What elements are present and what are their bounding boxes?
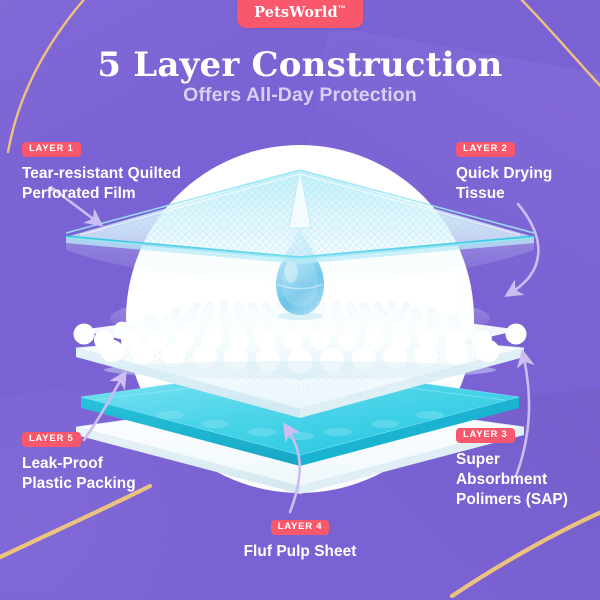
badge-layer-5: LAYER 5 (22, 432, 81, 447)
badge-layer-1: LAYER 1 (22, 142, 81, 157)
label-layer-2: Quick Drying Tissue (456, 164, 552, 204)
callout-layer-5[interactable]: LAYER 5 Leak-Proof Plastic Packing (22, 428, 136, 494)
badge-layer-2: LAYER 2 (456, 142, 515, 157)
brand-name: PetsWorld (254, 4, 338, 21)
label-layer-3: Super Absorbment Polimers (SAP) (456, 450, 568, 510)
infographic-canvas: PetsWorld™ 5 Layer Construction Offers A… (0, 0, 600, 600)
label-layer-1-line-1: Tear-resistant Quilted (22, 164, 181, 184)
arrow-layer-2 (512, 204, 538, 292)
badge-layer-4: LAYER 4 (271, 520, 330, 535)
label-layer-5-line-2: Plastic Packing (22, 474, 136, 494)
callout-layer-2[interactable]: LAYER 2 Quick Drying Tissue (456, 138, 552, 204)
label-layer-2-line-2: Tissue (456, 184, 552, 204)
label-layer-2-line-1: Quick Drying (456, 164, 552, 184)
page-subtitle: Offers All-Day Protection (0, 84, 600, 107)
label-layer-4: Fluf Pulp Sheet (0, 542, 600, 562)
label-layer-3-line-2: Absorbment (456, 470, 568, 490)
label-layer-1: Tear-resistant Quilted Perforated Film (22, 164, 181, 204)
page-title: 5 Layer Construction (0, 45, 600, 85)
callout-layer-3[interactable]: LAYER 3 Super Absorbment Polimers (SAP) (456, 424, 568, 510)
callout-layer-4[interactable]: LAYER 4 Fluf Pulp Sheet (0, 516, 600, 562)
badge-layer-3: LAYER 3 (456, 428, 515, 443)
callout-layer-1[interactable]: LAYER 1 Tear-resistant Quilted Perforate… (22, 138, 181, 204)
label-layer-3-line-3: Polimers (SAP) (456, 490, 568, 510)
label-layer-3-line-1: Super (456, 450, 568, 470)
label-layer-5: Leak-Proof Plastic Packing (22, 454, 136, 494)
trademark-icon: ™ (338, 4, 346, 13)
label-layer-1-line-2: Perforated Film (22, 184, 181, 204)
label-layer-4-line-1: Fluf Pulp Sheet (0, 542, 600, 562)
brand-logo[interactable]: PetsWorld™ (237, 0, 363, 28)
label-layer-5-line-1: Leak-Proof (22, 454, 136, 474)
